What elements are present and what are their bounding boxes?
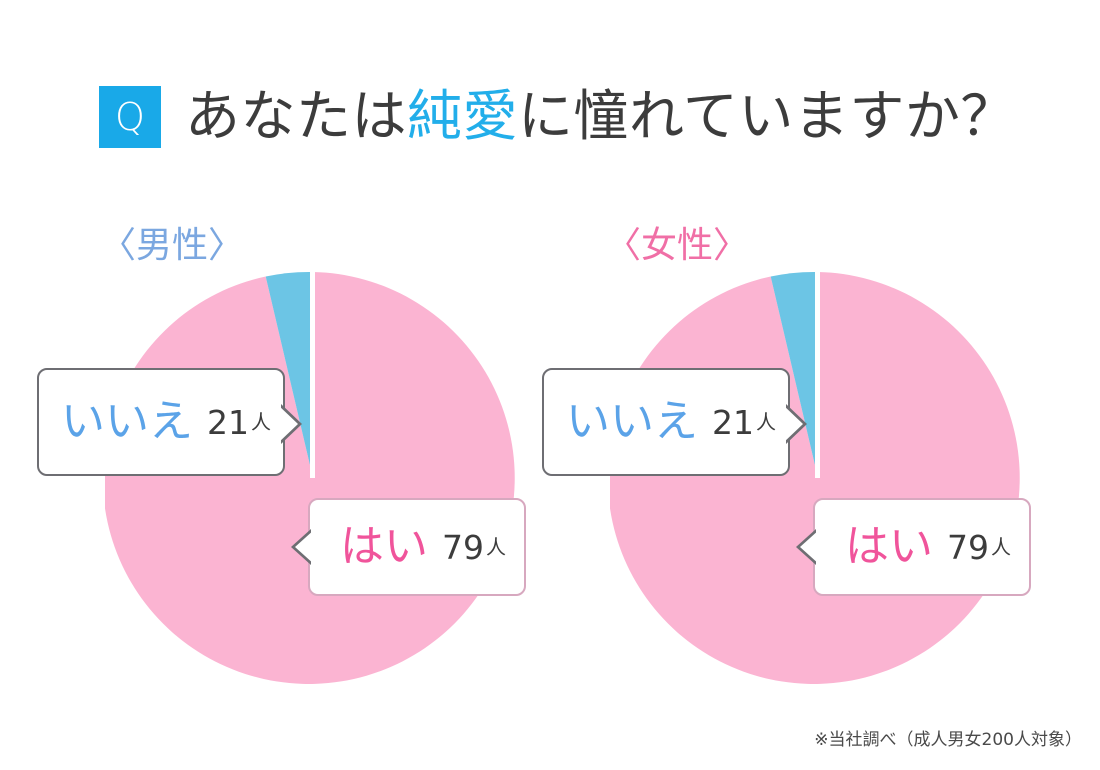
callout-yes-unit-male: 人	[486, 537, 506, 557]
question-badge: Q	[99, 86, 161, 148]
pie-chart-male: 〈男性〉 いいえ 21 人 はい 79 人	[55, 228, 575, 698]
callout-yes-value-female: 79	[947, 531, 989, 564]
callout-yes-male: はい 79 人	[308, 498, 526, 596]
callout-no-value-male: 21	[207, 406, 249, 439]
callout-yes-female: はい 79 人	[813, 498, 1031, 596]
chart-label-male: 〈男性〉	[100, 228, 244, 264]
callout-tail-fill-icon	[295, 529, 315, 565]
callout-no-value-female: 21	[712, 406, 754, 439]
pie-graphic-male	[105, 270, 521, 686]
question-header: Q あなたは純愛に憧れていますか？	[99, 86, 1016, 148]
callout-tail-fill-icon	[277, 404, 298, 444]
callout-yes-value-male: 79	[442, 531, 484, 564]
callout-no-label-female: いいえ	[566, 400, 698, 444]
callout-tail-fill-icon	[782, 404, 803, 444]
callout-yes-label-male: はい	[340, 525, 428, 569]
pie-separator-female	[815, 270, 820, 478]
callout-no-unit-female: 人	[756, 412, 776, 432]
callout-no-female: いいえ 21 人	[542, 368, 790, 476]
source-footnote: ※当社調べ（成人男女200人対象）	[814, 725, 1082, 750]
callout-yes-label-female: はい	[845, 525, 933, 569]
title-part-before: あなたは	[185, 84, 407, 148]
question-badge-label: Q	[115, 98, 145, 136]
title-highlight: 純愛	[407, 84, 518, 148]
page-title: あなたは純愛に憧れていますか？	[185, 88, 1016, 146]
title-part-after: に憧れていますか？	[518, 84, 1016, 148]
pie-chart-female: 〈女性〉 いいえ 21 人 はい 79 人	[560, 228, 1080, 698]
chart-label-female: 〈女性〉	[605, 228, 749, 264]
pie-separator-male	[310, 270, 315, 478]
callout-tail-fill-icon	[800, 529, 820, 565]
callout-no-male: いいえ 21 人	[37, 368, 285, 476]
callout-no-label-male: いいえ	[61, 400, 193, 444]
pie-graphic-female	[610, 270, 1026, 686]
callout-yes-unit-female: 人	[991, 537, 1011, 557]
callout-no-unit-male: 人	[251, 412, 271, 432]
